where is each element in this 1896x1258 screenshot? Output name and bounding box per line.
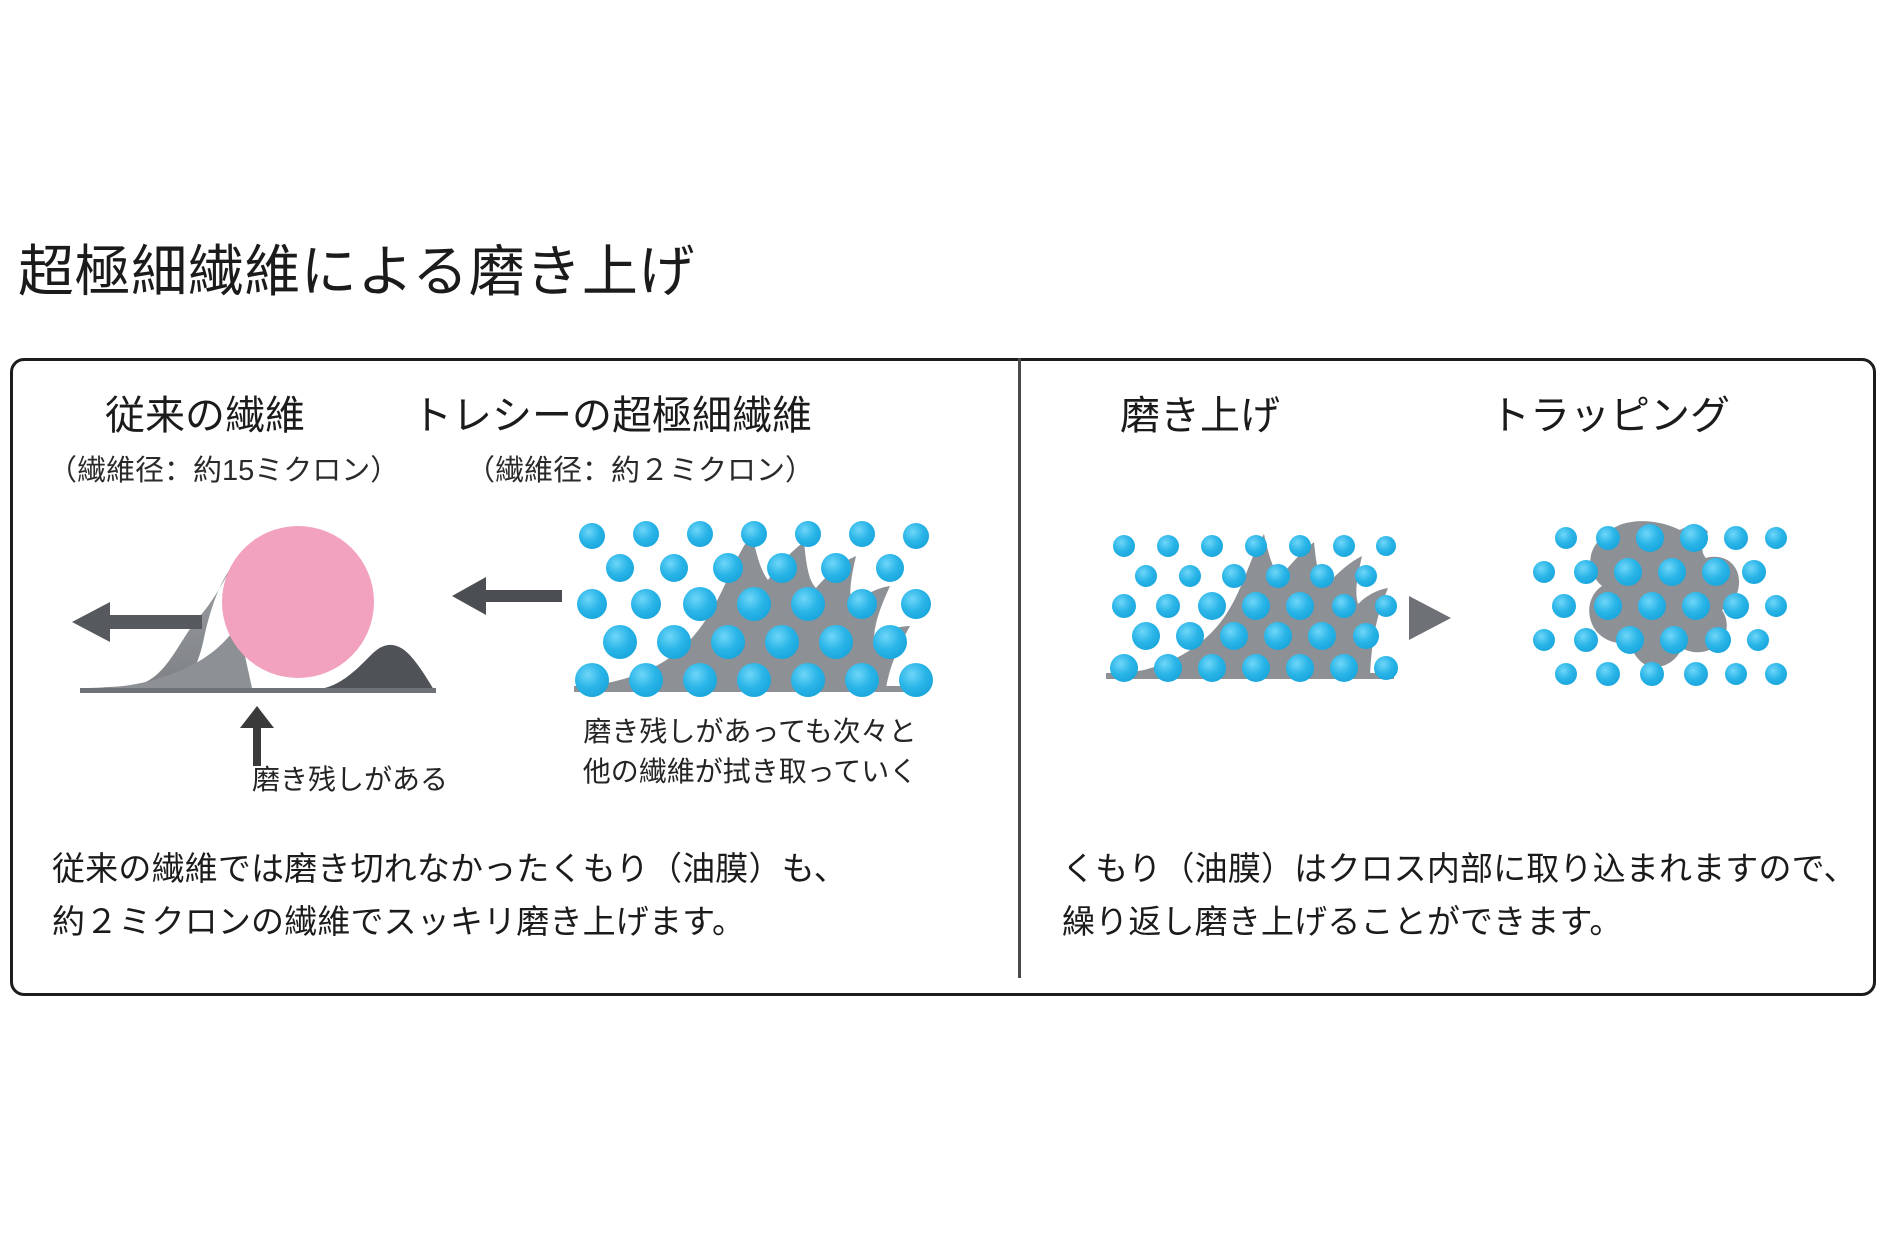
illustration-conventional-fiber <box>70 520 450 700</box>
right-triangle-arrow-icon <box>1403 592 1455 644</box>
heading-polishing: 磨き上げ <box>1120 396 1280 436</box>
polishing-dot-field <box>1100 518 1400 688</box>
dirt-particle-pink <box>222 526 374 678</box>
up-arrow-icon <box>238 706 276 766</box>
left-arrow-icon <box>452 574 562 618</box>
caption-other-fibers-wipe: 磨き残しがあっても次々と 他の繊維が拭き取っていく <box>520 712 980 792</box>
microfiber-dot-field <box>560 522 952 702</box>
left-arrow-icon <box>72 598 202 646</box>
illustration-polishing <box>1100 518 1400 688</box>
heading-toray-microfiber: トレシーの超極細繊維 <box>412 396 812 436</box>
panel-divider <box>1018 358 1021 978</box>
subheading-microfiber-diameter: （繊維径：約２ミクロン） <box>466 457 814 486</box>
trapping-dot-field <box>1530 512 1800 697</box>
page-title: 超極細繊維による磨き上げ <box>18 244 695 300</box>
caption-polishing-residue: 磨き残しがある <box>150 760 550 800</box>
illustration-microfiber <box>452 522 952 702</box>
heading-conventional-fiber: 従来の繊維 <box>105 396 305 436</box>
left-panel-paragraph: 従来の繊維では磨き切れなかったくもり（油膜）も、 約２ミクロンの繊維でスッキリ磨… <box>52 842 847 949</box>
right-panel-paragraph: くもり（油膜）はクロス内部に取り込まれますので、 繰り返し磨き上げることができま… <box>1062 842 1857 949</box>
subheading-conventional-fiber-diameter: （繊維径：約15ミクロン） <box>48 457 399 486</box>
illustration-trapping <box>1530 512 1800 697</box>
heading-trapping: トラッピング <box>1490 396 1730 436</box>
